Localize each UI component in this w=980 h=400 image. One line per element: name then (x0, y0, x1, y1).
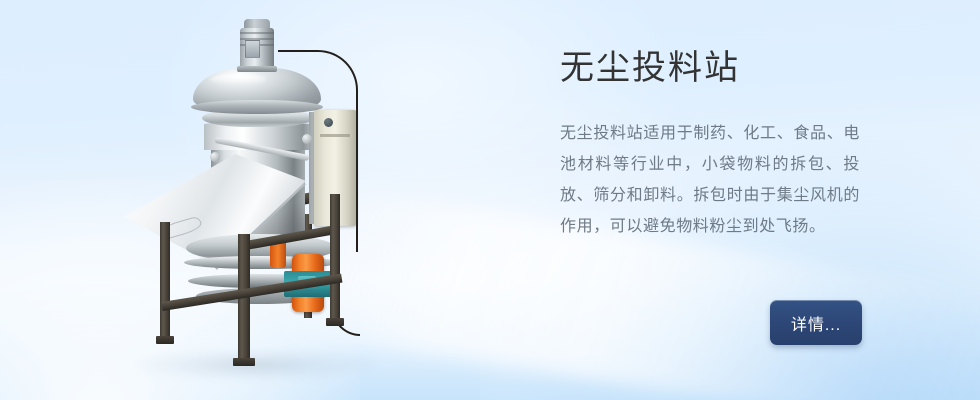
motor-mount-plate (237, 66, 277, 72)
product-ground-shadow (136, 350, 376, 380)
dome-highlight (210, 74, 266, 85)
page-title: 无尘投料站 (560, 46, 940, 90)
lid-handle-knob (210, 152, 220, 162)
control-panel-button (324, 118, 333, 127)
control-panel-strip (320, 134, 350, 137)
motor-cooling-fin (240, 32, 274, 34)
frame-foot-pad (156, 336, 174, 344)
frame-leg-front (238, 234, 250, 366)
product-hero-banner: 无尘投料站 无尘投料站适用于制药、化工、食品、电池材料等行业中，小袋物料的拆包、… (0, 0, 980, 400)
motor-nameplate (245, 40, 260, 58)
frame-leg-right (330, 194, 340, 326)
frame-foot-pad (326, 318, 344, 326)
banner-copy: 无尘投料站 无尘投料站适用于制药、化工、食品、电池材料等行业中，小袋物料的拆包、… (560, 46, 940, 242)
frame-leg-left (160, 222, 170, 344)
product-description: 无尘投料站适用于制药、化工、食品、电池材料等行业中，小袋物料的拆包、投放、筛分和… (560, 118, 860, 242)
product-image (118, 6, 418, 374)
lid-handle-knob (302, 134, 312, 144)
frame-foot-pad (233, 358, 255, 366)
details-button[interactable]: 详情... (770, 300, 862, 345)
